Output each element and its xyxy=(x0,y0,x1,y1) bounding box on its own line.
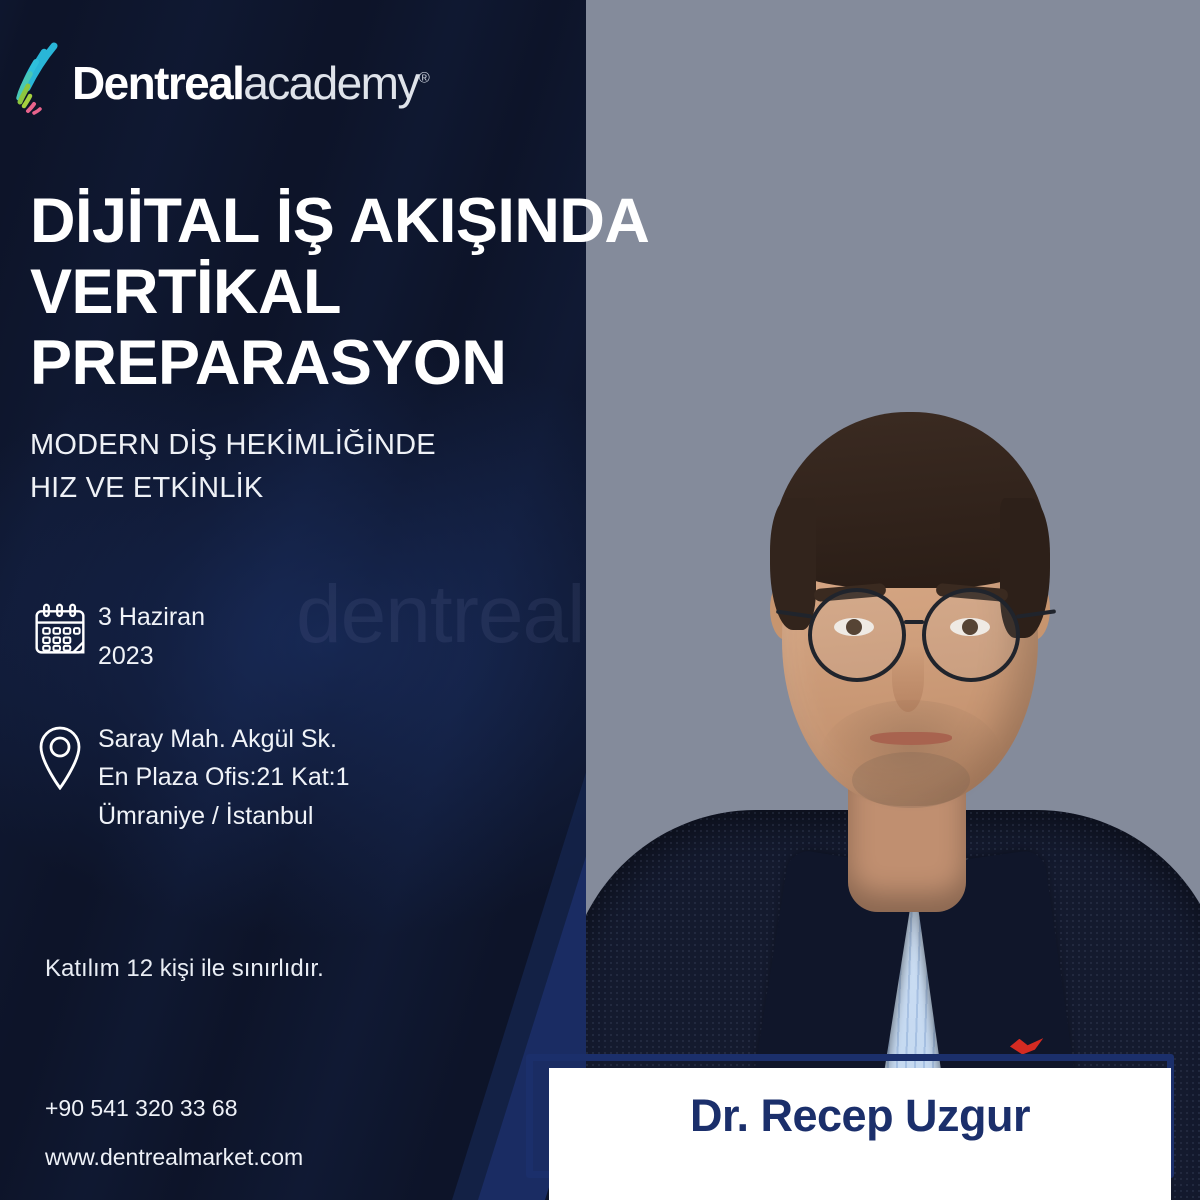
event-location-line-2: En Plaza Ofis:21 Kat:1 xyxy=(98,758,350,797)
speaker-nameplate: Dr. Recep Uzgur xyxy=(549,1068,1171,1200)
capacity-note: Katılım 12 kişi ile sınırlıdır. xyxy=(45,955,324,983)
mouth-shape xyxy=(870,732,952,745)
wing-fan-icon xyxy=(14,42,68,116)
brand-logo-text: Dentrealacademy® xyxy=(72,60,428,106)
glasses-lens-right-icon xyxy=(922,588,1020,682)
speaker-photo xyxy=(586,0,1200,1200)
subtitle: MODERN DİŞ HEKİMLİĞİNDE HIZ VE ETKİNLİK xyxy=(30,424,670,510)
headline-line-2: VERTİKAL xyxy=(30,257,341,327)
glasses-bridge xyxy=(904,620,924,624)
subtitle-line-2: HIZ VE ETKİNLİK xyxy=(30,467,670,510)
event-location-line-3: Ümraniye / İstanbul xyxy=(98,797,350,836)
event-location-row: Saray Mah. Akgül Sk. En Plaza Ofis:21 Ka… xyxy=(22,720,492,836)
event-date-line-1: 3 Haziran xyxy=(98,598,205,637)
event-poster: dentrealmarket xyxy=(0,0,1200,1200)
brand-name-bold: Dentreal xyxy=(72,57,243,109)
subtitle-line-1: MODERN DİŞ HEKİMLİĞİNDE xyxy=(30,424,670,467)
contact-website[interactable]: www.dentrealmarket.com xyxy=(45,1144,303,1171)
chin-shading xyxy=(852,752,970,808)
headline-line-1: DİJİTAL İŞ AKIŞINDA xyxy=(30,186,649,256)
map-pin-icon xyxy=(22,720,98,790)
event-date-row: 3 Haziran 2023 xyxy=(22,598,492,676)
event-date-text: 3 Haziran 2023 xyxy=(98,598,205,676)
speaker-name: Dr. Recep Uzgur xyxy=(690,1090,1030,1142)
event-details: 3 Haziran 2023 Saray Mah. Akgül Sk. En P… xyxy=(22,598,492,880)
contact-phone[interactable]: +90 541 320 33 68 xyxy=(45,1095,303,1122)
portrait-illustration xyxy=(586,0,1200,1200)
event-date-line-2: 2023 xyxy=(98,637,205,676)
contact-info: +90 541 320 33 68 www.dentrealmarket.com xyxy=(45,1095,303,1193)
brand-logo[interactable]: Dentrealacademy® xyxy=(14,40,428,116)
headline-line-3: PREPARASYON xyxy=(30,328,506,398)
brand-name-light: academy xyxy=(243,57,418,109)
page-title: DİJİTAL İŞ AKIŞINDA VERTİKAL PREPARASYON xyxy=(30,186,790,400)
calendar-icon xyxy=(22,598,98,658)
event-location-text: Saray Mah. Akgül Sk. En Plaza Ofis:21 Ka… xyxy=(98,720,350,836)
registered-mark: ® xyxy=(419,70,428,87)
glasses-lens-left-icon xyxy=(808,588,906,682)
event-location-line-1: Saray Mah. Akgül Sk. xyxy=(98,720,350,759)
